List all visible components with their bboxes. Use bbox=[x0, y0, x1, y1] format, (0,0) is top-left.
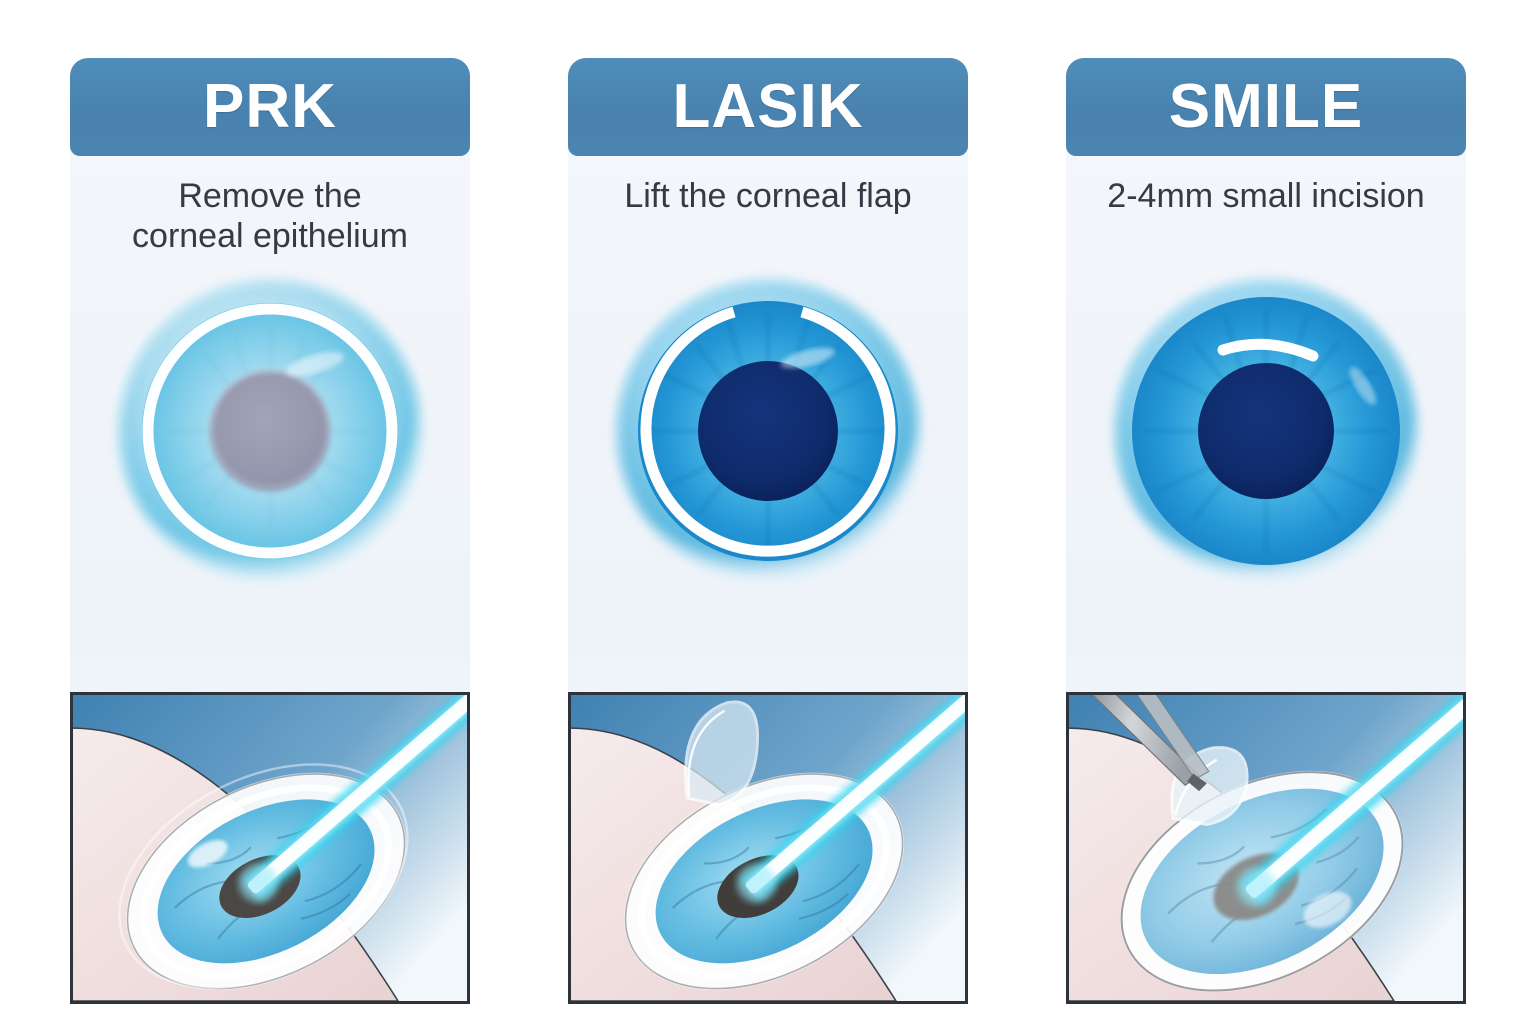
panel-body-lasik: Lift the corneal flap bbox=[568, 148, 968, 944]
eye-diagram-lasik bbox=[603, 266, 933, 596]
panel-subtitle-lasik: Lift the corneal flap bbox=[618, 176, 917, 260]
prk-laser-scene bbox=[73, 695, 467, 1001]
panel-header-lasik: LASIK bbox=[568, 58, 968, 156]
panel-lasik: LASIK Lift the corneal flap bbox=[568, 58, 968, 944]
smile-extraction-scene bbox=[1069, 695, 1463, 1001]
panel-body-smile: 2-4mm small incision bbox=[1066, 148, 1466, 944]
eye-front-view-smile bbox=[1101, 266, 1431, 596]
panel-prk: PRK Remove the corneal epithelium bbox=[70, 58, 470, 944]
panel-subtitle-prk: Remove the corneal epithelium bbox=[126, 176, 414, 260]
panel-title-prk: PRK bbox=[203, 76, 337, 138]
panel-body-prk: Remove the corneal epithelium bbox=[70, 148, 470, 944]
procedure-comparison-infographic: PRK Remove the corneal epithelium bbox=[0, 0, 1536, 1024]
lasik-laser-scene bbox=[571, 695, 965, 1001]
eye-diagram-smile bbox=[1101, 266, 1431, 596]
panel-subtitle-smile: 2-4mm small incision bbox=[1101, 176, 1430, 260]
panel-header-smile: SMILE bbox=[1066, 58, 1466, 156]
panel-title-smile: SMILE bbox=[1169, 76, 1363, 138]
eye-front-view-lasik bbox=[603, 266, 933, 596]
panel-smile: SMILE 2-4mm small incision bbox=[1066, 58, 1466, 944]
procedure-illustration-prk bbox=[70, 692, 470, 1004]
panel-title-lasik: LASIK bbox=[673, 76, 864, 138]
eye-diagram-prk bbox=[105, 266, 435, 596]
panel-header-prk: PRK bbox=[70, 58, 470, 156]
procedure-illustration-smile bbox=[1066, 692, 1466, 1004]
procedure-illustration-lasik bbox=[568, 692, 968, 1004]
eye-front-view-prk bbox=[105, 266, 435, 596]
